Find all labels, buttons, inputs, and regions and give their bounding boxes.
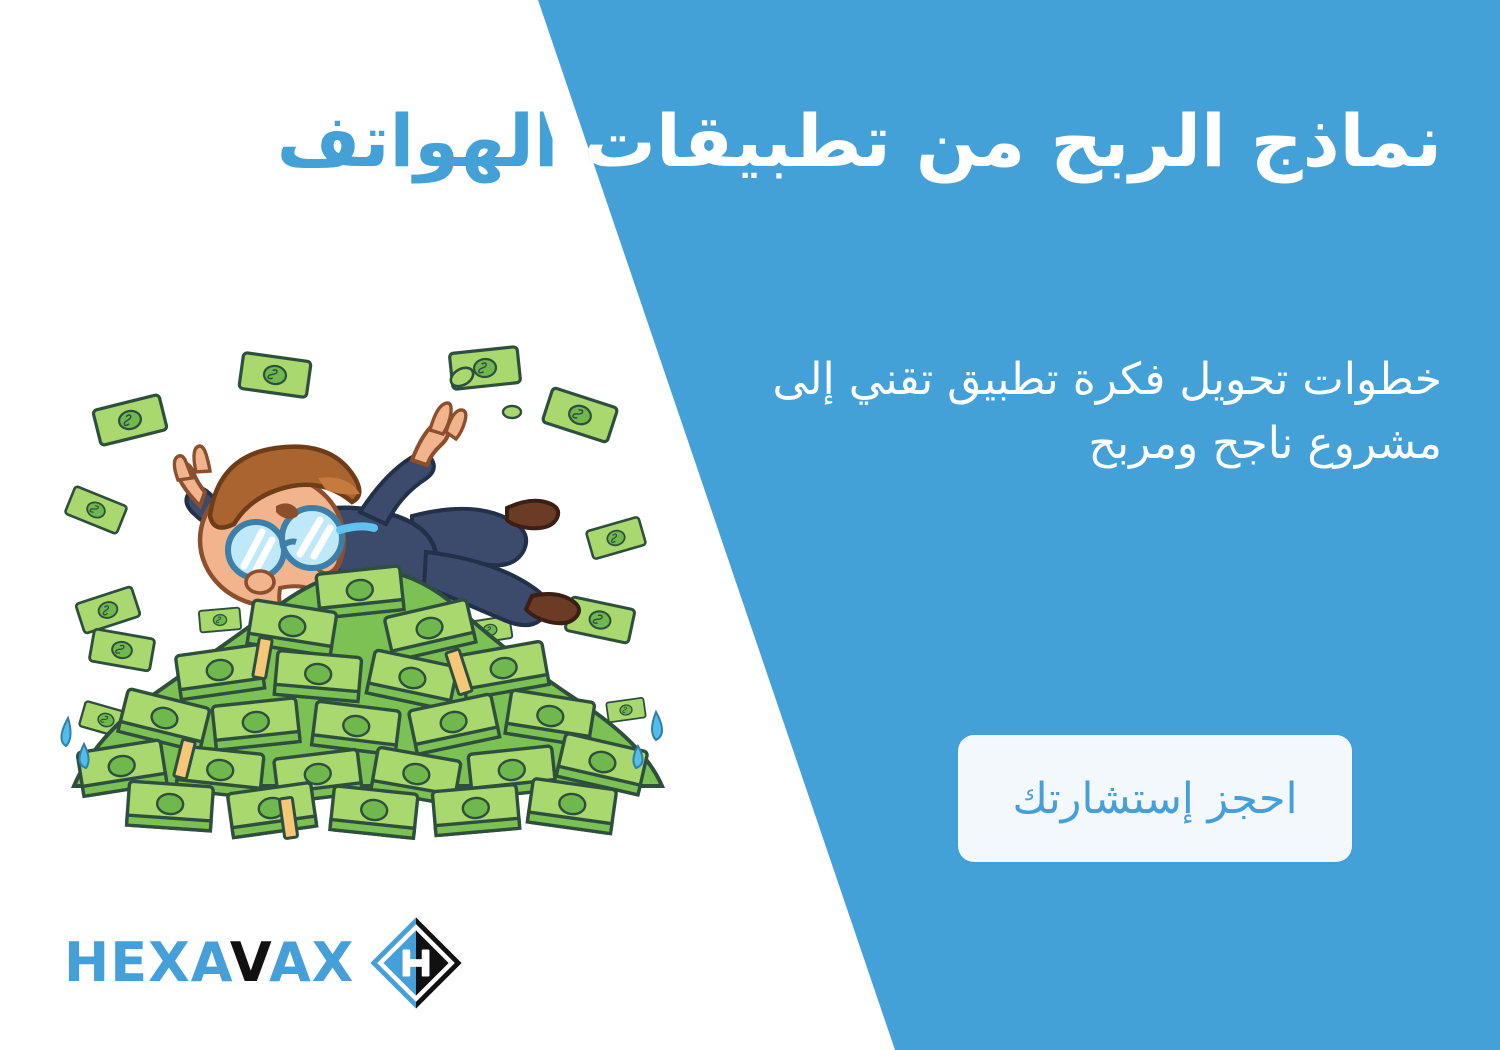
book-consultation-button[interactable]: احجز إستشارتك <box>958 735 1352 862</box>
hexavax-diamond-icon <box>368 915 464 1011</box>
promo-banner: نماذج الربح من تطبيقات الهواتف نماذج الر… <box>0 0 1500 1050</box>
money-illustration <box>60 320 680 840</box>
brand-wordmark: HEXAVAX <box>64 936 354 990</box>
wordmark-suffix: AX <box>269 931 354 994</box>
wordmark-prefix: HEXA <box>64 931 230 994</box>
brand-logo[interactable]: HEXAVAX <box>64 915 464 1011</box>
wordmark-accent: V <box>230 931 269 994</box>
page-subtitle: خطوات تحويل فكرة تطبيق تقني إلى مشروع نا… <box>702 348 1442 476</box>
